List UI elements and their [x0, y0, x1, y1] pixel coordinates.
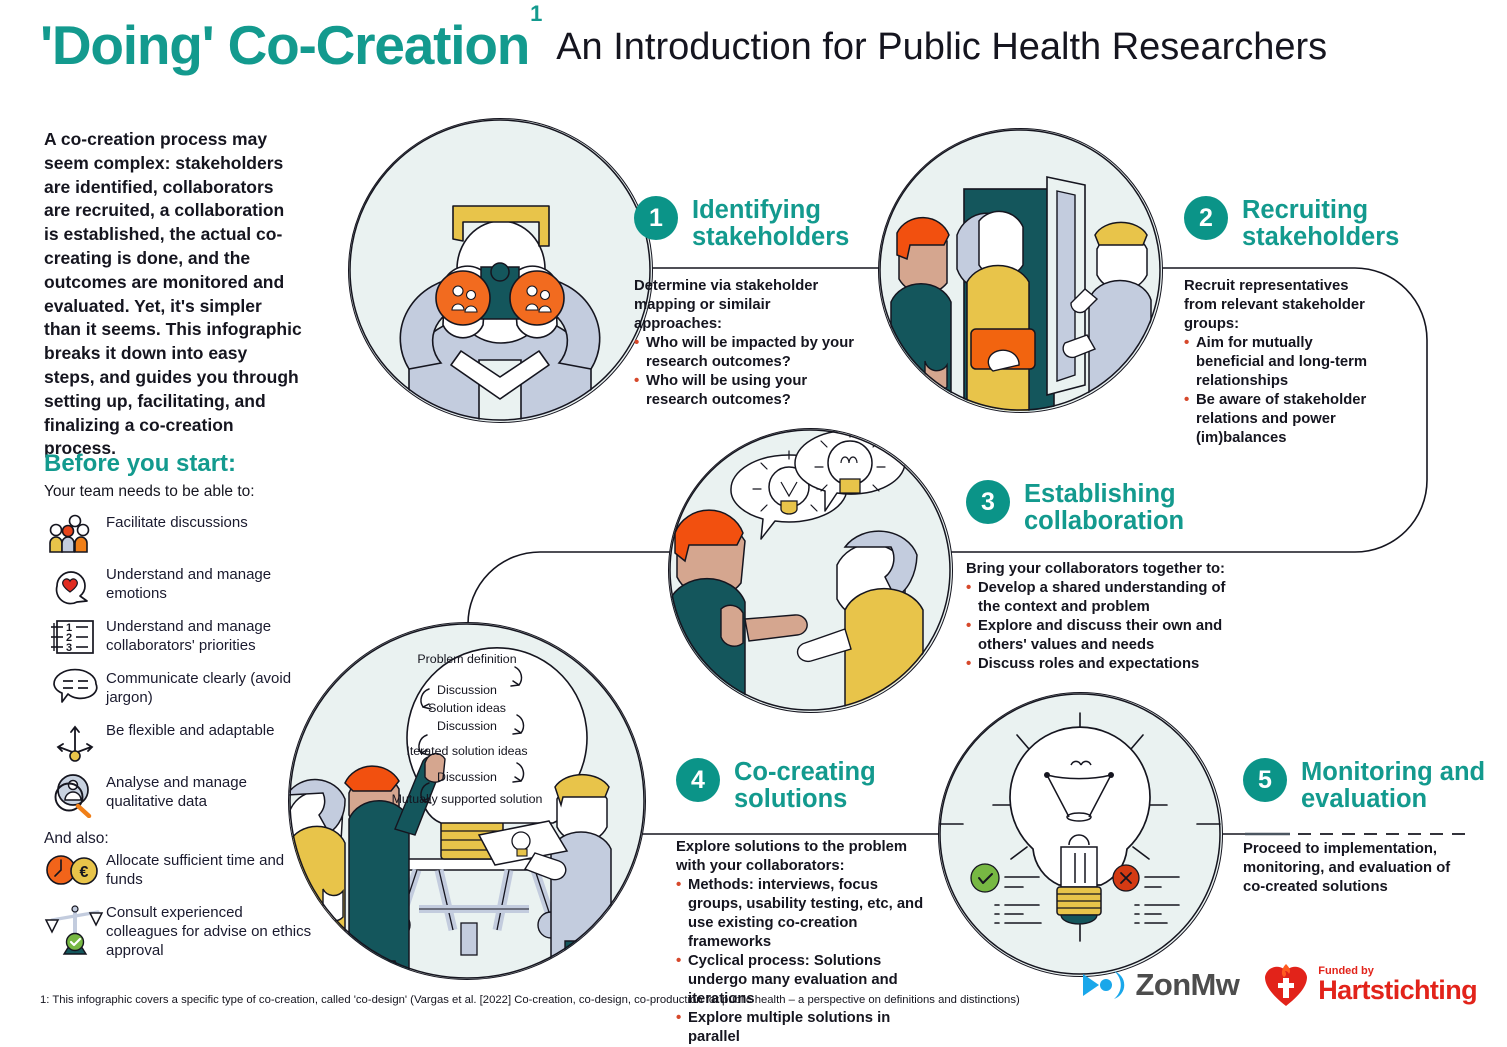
step-4-title: Co-creating solutions: [734, 758, 976, 814]
step-2-body: Recruit representatives from relevant st…: [1184, 277, 1379, 449]
before-you-start-subheading: Your team needs to be able to:: [44, 483, 255, 501]
page-title-text: 'Doing' Co-Creation: [40, 14, 529, 76]
list-item: Be aware of stakeholder relations and po…: [1184, 391, 1379, 448]
list-item: Facilitate discussions: [44, 512, 314, 556]
list-item-label: Be flexible and adaptable: [106, 720, 274, 741]
list-item: Consult experienced colleagues for advis…: [44, 902, 314, 964]
cycle-step-1: Discussion: [437, 683, 497, 697]
step-5-body: Proceed to implementation, monitoring, a…: [1243, 840, 1458, 897]
step-1: 1 Identifying stakeholders Determine via…: [634, 196, 984, 410]
cycle-step-3: Discussion: [437, 719, 497, 733]
step-1-header: 1 Identifying stakeholders: [634, 196, 984, 252]
cycle-step-2: Solution ideas: [428, 701, 506, 715]
footnote: 1: This infographic covers a specific ty…: [40, 994, 1020, 1006]
list-item: Discuss roles and expectations: [966, 655, 1236, 674]
step-4-bullets: Methods: interviews, focus groups, usabi…: [676, 876, 926, 1047]
lightbulb-evaluation-illustration: [938, 692, 1223, 977]
step-5-badge: 5: [1243, 758, 1287, 802]
list-item: Who will be impacted by your research ou…: [634, 334, 854, 372]
heart-flame-icon: [1263, 962, 1309, 1008]
step-1-badge: 1: [634, 196, 678, 240]
step-3-bullets: Develop a shared understanding of the co…: [966, 579, 1236, 674]
list-item-label: Facilitate discussions: [106, 512, 248, 533]
infographic-page: 'Doing' Co-Creation1 An Introduction for…: [0, 0, 1507, 1027]
list-item-label: Consult experienced colleagues for advis…: [106, 902, 314, 961]
step-2-header: 2 Recruiting stakeholders: [1184, 196, 1494, 252]
list-item: Analyse and manage qualitative data: [44, 772, 314, 818]
step-5: 5 Monitoring and evaluation Proceed to i…: [1243, 758, 1503, 897]
zonmw-logo: ZonMw: [1081, 967, 1240, 1003]
page-title: 'Doing' Co-Creation1: [40, 18, 540, 73]
and-also-list: € Allocate sufficient time and funds Con…: [44, 850, 314, 972]
step-1-body: Determine via stakeholder mapping or sim…: [634, 277, 854, 411]
list-item-label: Communicate clearly (avoid jargon): [106, 668, 314, 708]
list-item: Who will be using your research outcomes…: [634, 372, 854, 410]
list-item: Explore multiple solutions in parallel: [676, 1009, 926, 1047]
two-people-talking-lightbulbs-illustration: [668, 428, 953, 713]
page-subtitle: An Introduction for Public Health Resear…: [556, 26, 1327, 69]
clock-euro-icon: €: [44, 850, 106, 890]
heart-in-head-icon: [44, 564, 106, 608]
cycle-step-0: Problem definition: [417, 652, 516, 666]
and-also-heading: And also:: [44, 830, 109, 848]
step-4-body: Explore solutions to the problem with yo…: [676, 838, 926, 1047]
step-2-badge: 2: [1184, 196, 1228, 240]
step-1-lead: Determine via stakeholder mapping or sim…: [634, 277, 854, 334]
step-2: 2 Recruiting stakeholders Recruit repres…: [1184, 196, 1494, 448]
before-you-start-heading: Before you start:: [44, 450, 236, 478]
cycle-step-6: Mutually supported solution: [392, 792, 543, 806]
svg-text:3: 3: [66, 642, 72, 654]
list-item: Understand and manage emotions: [44, 564, 314, 608]
list-item: Communicate clearly (avoid jargon): [44, 668, 314, 712]
list-item: Aim for mutually beneficial and long-ter…: [1184, 334, 1379, 391]
step-2-bullets: Aim for mutually beneficial and long-ter…: [1184, 334, 1379, 448]
logo-row: ZonMw Funded by Hartstichting: [1081, 962, 1477, 1008]
three-people-icon: [44, 512, 106, 554]
step-3-body: Bring your collaborators together to: De…: [966, 560, 1236, 674]
zonmw-logo-text: ZonMw: [1136, 967, 1240, 1003]
step-3-header: 3 Establishing collaboration: [966, 480, 1296, 536]
step-3-title: Establishing collaboration: [1024, 480, 1296, 536]
step-3-badge: 3: [966, 480, 1010, 524]
skills-list: Facilitate discussions Understand and ma…: [44, 512, 314, 826]
people-building-lightbulb-illustration: Problem definition Discussion Solution i…: [288, 622, 646, 980]
list-item-label: Understand and manage emotions: [106, 564, 314, 604]
step-3: 3 Establishing collaboration Bring your …: [966, 480, 1296, 674]
step-5-lead: Proceed to implementation, monitoring, a…: [1243, 840, 1458, 897]
list-item: Develop a shared understanding of the co…: [966, 579, 1236, 617]
list-item: € Allocate sufficient time and funds: [44, 850, 314, 894]
hartstichting-logo-text: Hartstichting: [1318, 977, 1477, 1004]
cycle-step-5: Discussion: [437, 770, 497, 784]
step-5-title: Monitoring and evaluation: [1301, 758, 1503, 814]
list-item-label: Analyse and manage qualitative data: [106, 772, 314, 812]
list-item-label: Understand and manage collaborators' pri…: [106, 616, 314, 656]
numbered-list-icon: 1 2 3: [44, 616, 106, 658]
header: 'Doing' Co-Creation1 An Introduction for…: [40, 18, 1327, 73]
scales-check-icon: [44, 902, 106, 960]
list-item-label: Allocate sufficient time and funds: [106, 850, 314, 890]
speech-bubble-icon: [44, 668, 106, 712]
step-4-header: 4 Co-creating solutions: [676, 758, 976, 814]
flexible-arrows-icon: [44, 720, 106, 764]
intro-paragraph: A co-creation process may seem complex: …: [44, 128, 302, 461]
title-footnote-marker: 1: [530, 1, 541, 26]
step-1-title: Identifying stakeholders: [692, 196, 984, 252]
list-item: Methods: interviews, focus groups, usabi…: [676, 876, 926, 952]
step-2-lead: Recruit representatives from relevant st…: [1184, 277, 1379, 334]
step-3-lead: Bring your collaborators together to:: [966, 560, 1236, 579]
list-item: Be flexible and adaptable: [44, 720, 314, 764]
svg-text:€: €: [80, 864, 89, 881]
list-item: 1 2 3 Understand and manage collaborator…: [44, 616, 314, 660]
person-with-binoculars-illustration: [348, 118, 653, 423]
step-5-header: 5 Monitoring and evaluation: [1243, 758, 1503, 814]
step-4-lead: Explore solutions to the problem with yo…: [676, 838, 926, 876]
list-item: Explore and discuss their own and others…: [966, 617, 1236, 655]
magnifier-person-icon: [44, 772, 106, 818]
hartstichting-logo: Funded by Hartstichting: [1263, 962, 1477, 1008]
zonmw-mark-icon: [1081, 968, 1127, 1002]
step-2-title: Recruiting stakeholders: [1242, 196, 1494, 252]
step-4-badge: 4: [676, 758, 720, 802]
step-1-bullets: Who will be impacted by your research ou…: [634, 334, 854, 410]
